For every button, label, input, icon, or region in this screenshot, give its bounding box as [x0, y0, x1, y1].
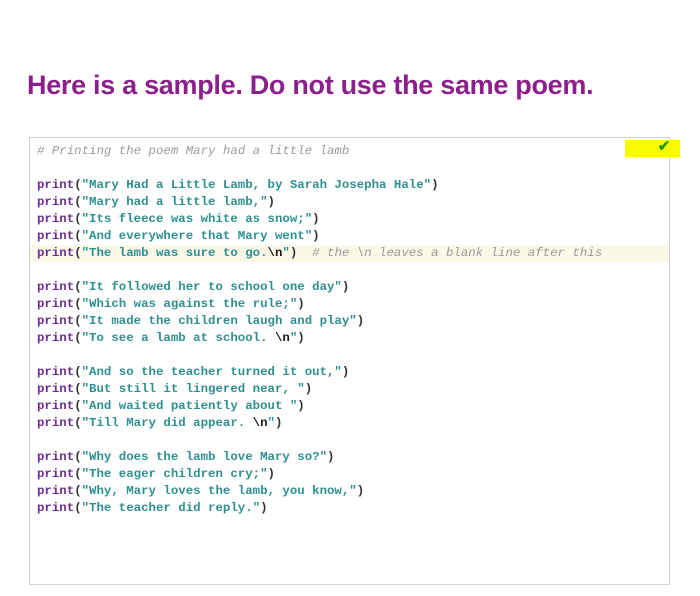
code-line-list: # Printing the poem Mary had a little la… [30, 138, 669, 517]
code-line: print("The lamb was sure to go.\n") # th… [30, 245, 669, 262]
token-punctuation: ) [275, 416, 282, 430]
token-string: " [282, 246, 289, 260]
code-blank-line [30, 262, 669, 279]
code-line: print("And waited patiently about ") [30, 398, 669, 415]
token-string: "The lamb was sure to go. [82, 246, 268, 260]
code-line: # Printing the poem Mary had a little la… [30, 143, 669, 160]
token-punctuation: ) [342, 280, 349, 294]
token-string: "But still it lingered near, " [82, 382, 305, 396]
token-string: "The eager children cry;" [82, 467, 268, 481]
token-string: "It followed her to school one day" [82, 280, 342, 294]
token-string: "The teacher did reply." [82, 501, 260, 515]
token-string: "Mary Had a Little Lamb, by Sarah Joseph… [82, 178, 431, 192]
token-plain [297, 246, 312, 260]
token-punctuation: ) [357, 484, 364, 498]
code-line: print("But still it lingered near, ") [30, 381, 669, 398]
token-punctuation: ) [268, 195, 275, 209]
token-punctuation: ( [74, 382, 81, 396]
token-keyword: print [37, 246, 74, 260]
code-blank-line [30, 160, 669, 177]
token-keyword: print [37, 297, 74, 311]
code-line: print("The teacher did reply.") [30, 500, 669, 517]
token-punctuation: ) [342, 365, 349, 379]
code-line: print("Why, Mary loves the lamb, you kno… [30, 483, 669, 500]
code-line: print("And everywhere that Mary went") [30, 228, 669, 245]
token-comment: # the \n leaves a blank line after this [312, 246, 602, 260]
token-keyword: print [37, 501, 74, 515]
token-string: "And waited patiently about " [82, 399, 298, 413]
token-keyword: print [37, 416, 74, 430]
token-string: "To see a lamb at school. [82, 331, 275, 345]
token-punctuation: ) [305, 382, 312, 396]
code-line: print("To see a lamb at school. \n") [30, 330, 669, 347]
token-punctuation: ) [312, 229, 319, 243]
token-punctuation: ( [74, 501, 81, 515]
token-punctuation: ( [74, 297, 81, 311]
token-punctuation: ( [74, 484, 81, 498]
token-punctuation: ( [74, 314, 81, 328]
checkmark-icon: ✔ [655, 138, 673, 156]
token-punctuation: ( [74, 416, 81, 430]
token-punctuation: ( [74, 178, 81, 192]
code-line: print("It followed her to school one day… [30, 279, 669, 296]
token-string: "Its fleece was white as snow;" [82, 212, 313, 226]
token-keyword: print [37, 331, 74, 345]
token-punctuation: ) [431, 178, 438, 192]
token-keyword: print [37, 212, 74, 226]
token-string: "Why does the lamb love Mary so?" [82, 450, 327, 464]
token-punctuation: ) [297, 331, 304, 345]
token-keyword: print [37, 280, 74, 294]
token-escape: \n [275, 331, 290, 345]
code-line: print("Why does the lamb love Mary so?") [30, 449, 669, 466]
token-keyword: print [37, 399, 74, 413]
token-string: "Why, Mary loves the lamb, you know," [82, 484, 357, 498]
code-line: print("Which was against the rule;") [30, 296, 669, 313]
token-punctuation: ( [74, 365, 81, 379]
code-line: print("And so the teacher turned it out,… [30, 364, 669, 381]
token-punctuation: ( [74, 212, 81, 226]
token-punctuation: ) [260, 501, 267, 515]
token-keyword: print [37, 178, 74, 192]
token-punctuation: ) [297, 297, 304, 311]
token-keyword: print [37, 314, 74, 328]
token-keyword: print [37, 195, 74, 209]
code-line: print("Mary had a little lamb,") [30, 194, 669, 211]
token-punctuation: ( [74, 467, 81, 481]
token-punctuation: ) [268, 467, 275, 481]
token-keyword: print [37, 229, 74, 243]
token-keyword: print [37, 467, 74, 481]
token-punctuation: ( [74, 280, 81, 294]
token-punctuation: ) [327, 450, 334, 464]
code-line: print("The eager children cry;") [30, 466, 669, 483]
token-string: "And so the teacher turned it out," [82, 365, 342, 379]
code-line: print("It made the children laugh and pl… [30, 313, 669, 330]
token-punctuation: ( [74, 195, 81, 209]
token-keyword: print [37, 450, 74, 464]
code-line: print("Till Mary did appear. \n") [30, 415, 669, 432]
token-keyword: print [37, 365, 74, 379]
code-line: print("Mary Had a Little Lamb, by Sarah … [30, 177, 669, 194]
token-string: "It made the children laugh and play" [82, 314, 357, 328]
token-keyword: print [37, 382, 74, 396]
token-escape: \n [268, 246, 283, 260]
token-punctuation: ( [74, 450, 81, 464]
token-comment: # Printing the poem Mary had a little la… [37, 144, 349, 158]
code-blank-line [30, 347, 669, 364]
code-blank-line [30, 432, 669, 449]
token-punctuation: ) [357, 314, 364, 328]
token-punctuation: ( [74, 246, 81, 260]
code-editor-panel[interactable]: # Printing the poem Mary had a little la… [29, 137, 670, 585]
page-title: Here is a sample. Do not use the same po… [27, 70, 593, 101]
token-string: "Till Mary did appear. [82, 416, 253, 430]
token-string: "And everywhere that Mary went" [82, 229, 313, 243]
token-string: " [268, 416, 275, 430]
token-punctuation: ( [74, 229, 81, 243]
token-escape: \n [253, 416, 268, 430]
token-string: "Mary had a little lamb," [82, 195, 268, 209]
token-keyword: print [37, 484, 74, 498]
token-punctuation: ) [312, 212, 319, 226]
token-string: "Which was against the rule;" [82, 297, 298, 311]
code-line: print("Its fleece was white as snow;") [30, 211, 669, 228]
token-punctuation: ( [74, 399, 81, 413]
token-punctuation: ) [297, 399, 304, 413]
token-punctuation: ( [74, 331, 81, 345]
